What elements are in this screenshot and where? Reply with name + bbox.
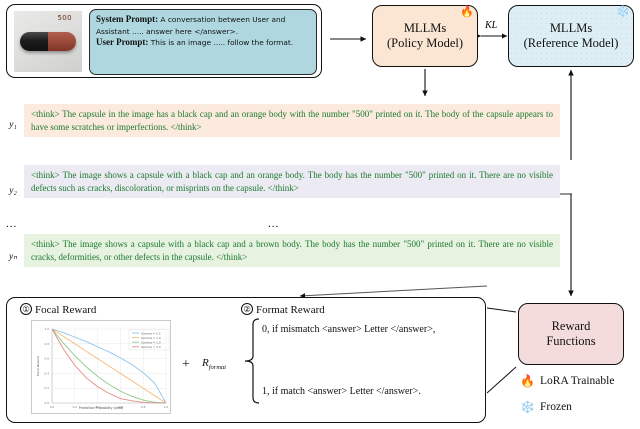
capsule-image: 500 [14,11,82,72]
snowflake-icon: ❄️ [520,401,534,413]
reward-functions-line2: Functions [546,334,595,349]
focal-reward-title: ①Focal Reward [20,303,96,316]
snowflake-icon: ❄️ [616,7,630,18]
plus-sign: + [182,357,190,373]
svg-text:Gamma = 0.5: Gamma = 0.5 [141,331,161,335]
focal-reward-title-text: Focal Reward [35,304,96,316]
r-format-letter: R [202,357,209,369]
answer-1-y-label: y₁ [6,120,20,130]
legend-lora-label: LoRA Trainable [540,375,614,387]
focal-reward-number: ① [20,303,32,315]
svg-text:Focal Reward: Focal Reward [36,356,40,376]
capsule-number-label: 500 [57,14,72,22]
legend-frozen: ❄️ Frozen [520,401,572,413]
format-case-mismatch: 0, if mismatch <answer> Letter </answer>… [262,324,435,335]
reward-functions-box: Reward Functions [518,303,624,365]
answer-n-y-label: yₙ [6,251,20,262]
legend-lora-trainable: 🔥 LoRA Trainable [520,375,614,387]
svg-text:0.6: 0.6 [45,357,50,361]
capsule-shape [20,32,76,51]
svg-text:0.8: 0.8 [45,342,50,346]
user-prompt-text: This is an image ..... follow the format… [148,38,293,47]
capsule-cap [20,32,48,51]
reward-functions-line1: Reward [552,319,591,334]
reference-model-box: ❄️ MLLMs (Reference Model) [508,5,634,67]
answer-2-y-label: y₂ [6,186,20,196]
answer-2-box: <think> The image shows a capsule with a… [24,165,560,198]
chart-x-axis-label: Prediction Probability (prob) [31,406,171,410]
answer-1-box: <think> The capsule in the image has a b… [24,104,560,137]
format-reward-number: ② [241,303,253,315]
fire-icon: 🔥 [520,375,534,387]
svg-text:0.4: 0.4 [45,371,50,375]
fire-icon: 🔥 [460,7,474,18]
kl-label: KL [485,20,497,31]
case-brace [243,318,261,404]
policy-model-line2: (Policy Model) [387,36,463,51]
policy-model-line1: MLLMs [404,21,446,36]
reference-model-line2: (Reference Model) [524,36,619,51]
capsule-body [48,32,76,51]
format-case-match: 1, if match <answer> Letter </answer>. [262,386,421,397]
chart-legend: Gamma = 0.5Gamma = 1.0Gamma = 2.0Gamma =… [129,330,169,350]
focal-chart-svg: Gamma = 0.5Gamma = 1.0Gamma = 2.0Gamma =… [32,321,172,415]
svg-text:0.2: 0.2 [45,386,50,390]
r-format-subscript: format [209,364,226,371]
format-reward-title-text: Format Reward [256,304,325,316]
reference-model-line1: MLLMs [550,21,592,36]
svg-text:1.0: 1.0 [45,327,50,331]
input-panel: 500 System Prompt: A conversation betwee… [6,4,322,78]
svg-text:Gamma = 1.0: Gamma = 1.0 [141,336,161,340]
ellipsis-left: ... [6,218,17,230]
kl-connector: KL [479,22,509,46]
svg-text:Gamma = 3.0: Gamma = 3.0 [141,345,161,349]
ellipsis-middle: ... [268,218,279,230]
svg-text:0.0: 0.0 [45,401,50,405]
policy-model-box: 🔥 MLLMs (Policy Model) [372,5,478,67]
format-reward-title: ②Format Reward [241,303,325,316]
system-prompt-label: System Prompt: [96,14,158,24]
prompt-box: System Prompt: A conversation between Us… [89,9,317,75]
svg-text:Gamma = 2.0: Gamma = 2.0 [141,341,161,345]
r-format-symbol: Rformat [202,357,226,371]
legend-frozen-label: Frozen [540,401,572,413]
diagram-canvas: 500 System Prompt: A conversation betwee… [0,0,640,429]
answer-n-box: <think> The image shows a capsule with a… [24,234,560,267]
focal-reward-chart: Gamma = 0.5Gamma = 1.0Gamma = 2.0Gamma =… [31,320,171,414]
user-prompt-label: User Prompt: [96,37,148,47]
